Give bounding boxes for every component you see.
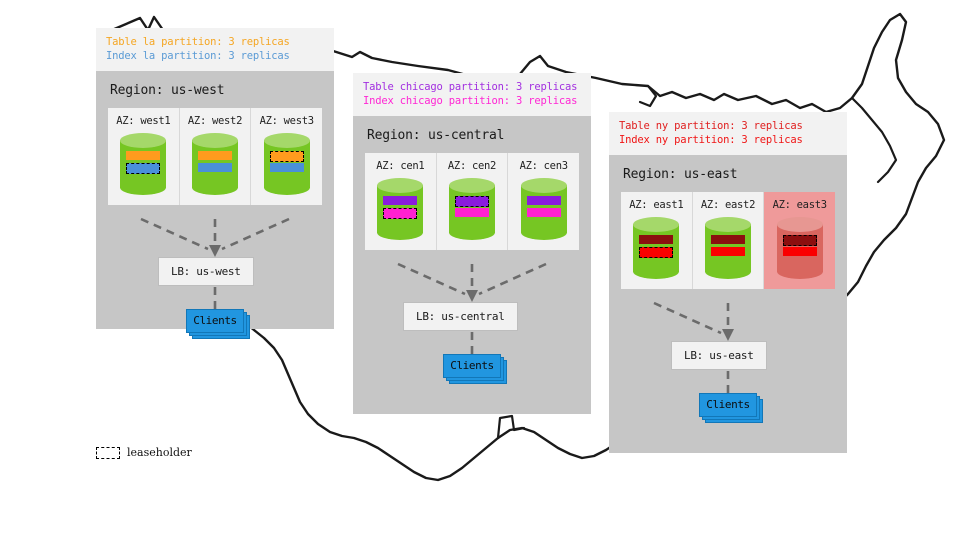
table-replica-bar (527, 196, 561, 205)
az-strip-us-east: AZ: east1 AZ: east2 (621, 192, 835, 289)
connector-cen1-to-lb (398, 264, 465, 294)
az-cell-cen3[interactable]: AZ: cen3 (508, 153, 579, 250)
replica-bars-east3 (783, 235, 817, 259)
region-header-us-central: Table chicago partition: 3 replicas Inde… (353, 73, 591, 116)
region-body-us-west: Region: us-west AZ: west1 AZ: west2 (96, 71, 334, 329)
az-cell-west2[interactable]: AZ: west2 (180, 108, 252, 205)
node-cylinder-west3[interactable] (264, 133, 310, 195)
replica-bars-west3 (270, 151, 304, 175)
load-balancer-us-east[interactable]: LB: us-east (671, 341, 767, 370)
node-cylinder-cen1[interactable] (377, 178, 423, 240)
az-label-west1: AZ: west1 (108, 115, 179, 127)
clients-us-west[interactable]: Clients (186, 309, 244, 333)
index-replica-bar (527, 208, 561, 217)
az-cell-cen2[interactable]: AZ: cen2 (437, 153, 509, 250)
region-body-us-east: Region: us-east AZ: east1 AZ: east2 (609, 155, 847, 453)
table-partition-line: Table la partition: 3 replicas (106, 35, 324, 49)
region-panel-us-central: Table chicago partition: 3 replicas Inde… (353, 73, 591, 414)
az-label-cen3: AZ: cen3 (508, 160, 579, 172)
node-cylinder-west2[interactable] (192, 133, 238, 195)
connector-west3-to-lb (222, 219, 289, 249)
region-title-us-west: Region: us-west (96, 71, 334, 108)
table-replica-bar (639, 235, 673, 244)
az-cell-east2[interactable]: AZ: east2 (693, 192, 765, 289)
node-cylinder-east2[interactable] (705, 217, 751, 279)
region-body-us-central: Region: us-central AZ: cen1 AZ: cen2 (353, 116, 591, 414)
index-replica-bar (711, 247, 745, 256)
usa-map-northeast-detail (852, 98, 896, 182)
connector-arrowhead-lb (209, 245, 221, 257)
usa-map-great-lakes-detail (640, 86, 656, 106)
replica-bars-cen3 (527, 196, 561, 220)
index-partition-line: Index ny partition: 3 replicas (619, 133, 837, 147)
index-replica-bar-leaseholder (383, 208, 417, 219)
table-replica-bar (126, 151, 160, 160)
legend: leaseholder (96, 446, 192, 459)
table-partition-line: Table chicago partition: 3 replicas (363, 80, 581, 94)
table-replica-bar-leaseholder (455, 196, 489, 207)
region-header-us-west: Table la partition: 3 replicas Index la … (96, 28, 334, 71)
replica-bars-east2 (711, 235, 745, 259)
replica-bars-cen1 (383, 196, 417, 220)
node-cylinder-west1[interactable] (120, 133, 166, 195)
az-label-east2: AZ: east2 (693, 199, 764, 211)
node-cylinder-cen3[interactable] (521, 178, 567, 240)
table-replica-bar-leaseholder (783, 235, 817, 246)
connector-east1-to-lb (654, 303, 721, 333)
connector-arrowhead-lb (466, 290, 478, 302)
az-strip-us-west: AZ: west1 AZ: west2 (108, 108, 322, 205)
index-replica-bar (783, 247, 817, 256)
az-cell-east1[interactable]: AZ: east1 (621, 192, 693, 289)
clients-label: Clients (699, 393, 757, 417)
region-panel-us-east: Table ny partition: 3 replicas Index ny … (609, 112, 847, 453)
table-replica-bar (383, 196, 417, 205)
az-cell-west1[interactable]: AZ: west1 (108, 108, 180, 205)
az-label-west3: AZ: west3 (251, 115, 322, 127)
region-panel-us-west: Table la partition: 3 replicas Index la … (96, 28, 334, 329)
az-cell-east3-failed[interactable]: AZ: east3 (764, 192, 835, 289)
az-label-cen2: AZ: cen2 (437, 160, 508, 172)
load-balancer-us-west[interactable]: LB: us-west (158, 257, 254, 286)
az-cell-west3[interactable]: AZ: west3 (251, 108, 322, 205)
clients-us-east[interactable]: Clients (699, 393, 757, 417)
az-label-east1: AZ: east1 (621, 199, 692, 211)
az-label-east3: AZ: east3 (764, 199, 835, 211)
index-partition-line: Index la partition: 3 replicas (106, 49, 324, 63)
index-partition-line: Index chicago partition: 3 replicas (363, 94, 581, 108)
clients-label: Clients (443, 354, 501, 378)
legend-label: leaseholder (127, 446, 192, 459)
index-replica-bar-leaseholder (639, 247, 673, 258)
index-replica-bar (270, 163, 304, 172)
node-cylinder-east3-failed[interactable] (777, 217, 823, 279)
node-cylinder-cen2[interactable] (449, 178, 495, 240)
table-partition-line: Table ny partition: 3 replicas (619, 119, 837, 133)
clients-label: Clients (186, 309, 244, 333)
az-cell-cen1[interactable]: AZ: cen1 (365, 153, 437, 250)
replica-bars-cen2 (455, 196, 489, 220)
connector-west1-to-lb (141, 219, 208, 249)
node-cylinder-east1[interactable] (633, 217, 679, 279)
connector-cen3-to-lb (479, 264, 546, 294)
replica-bars-east1 (639, 235, 673, 259)
table-replica-bar (711, 235, 745, 244)
region-header-us-east: Table ny partition: 3 replicas Index ny … (609, 112, 847, 155)
connector-arrowhead-lb (722, 329, 734, 341)
dashed-rect-icon (96, 447, 120, 459)
index-replica-bar (198, 163, 232, 172)
index-replica-bar-leaseholder (126, 163, 160, 174)
load-balancer-us-central[interactable]: LB: us-central (403, 302, 518, 331)
replica-bars-west1 (126, 151, 160, 175)
region-title-us-east: Region: us-east (609, 155, 847, 192)
index-replica-bar (455, 208, 489, 217)
table-replica-bar (198, 151, 232, 160)
az-label-west2: AZ: west2 (180, 115, 251, 127)
region-title-us-central: Region: us-central (353, 116, 591, 153)
az-label-cen1: AZ: cen1 (365, 160, 436, 172)
clients-us-central[interactable]: Clients (443, 354, 501, 378)
usa-map-gulf-detail (498, 416, 524, 438)
az-strip-us-central: AZ: cen1 AZ: cen2 (365, 153, 579, 250)
table-replica-bar-leaseholder (270, 151, 304, 162)
replica-bars-west2 (198, 151, 232, 175)
